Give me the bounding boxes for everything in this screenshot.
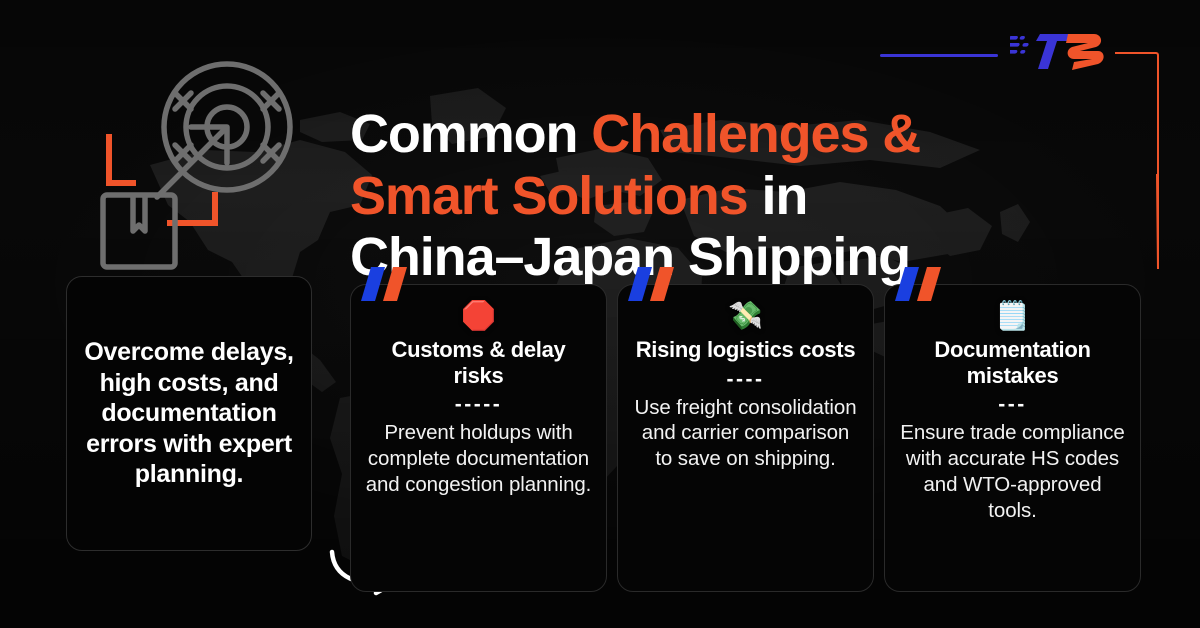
dual-parallelogram-badge-icon: [626, 267, 680, 301]
card-divider: ---: [998, 394, 1026, 414]
challenge-card-1[interactable]: 🛑 Customs & delay risks ----- Prevent ho…: [350, 284, 607, 592]
stop-sign-emoji: 🛑: [461, 299, 496, 333]
intro-summary-text: Overcome delays, high costs, and documen…: [83, 337, 295, 490]
cards-row: Overcome delays, high costs, and documen…: [66, 276, 1138, 596]
money-with-wings-emoji: 💸: [728, 299, 763, 333]
target-arrow-package-icon: [95, 55, 315, 280]
card-body-text: Ensure trade compliance with accurate HS…: [899, 420, 1126, 523]
page-title: Common Challenges & Smart Solutions in C…: [350, 104, 1010, 289]
card-title: Customs & delay risks: [365, 337, 592, 388]
card-title: Rising logistics costs: [636, 337, 856, 363]
headline-line1-white: Common: [350, 104, 591, 164]
ts-logo: [1010, 28, 1110, 76]
poster-canvas: Common Challenges & Smart Solutions in C…: [0, 0, 1200, 628]
card-divider: ----: [727, 369, 765, 389]
headline-line2-white: in: [748, 166, 808, 226]
dual-parallelogram-badge-icon: [359, 267, 413, 301]
intro-summary-card: Overcome delays, high costs, and documen…: [66, 276, 312, 551]
blue-accent-rule: [880, 54, 998, 57]
card-body-text: Prevent holdups with complete documentat…: [365, 420, 592, 497]
page-document-emoji: 🗒️: [995, 299, 1030, 333]
orange-corner-bracket: [1115, 52, 1159, 269]
dual-parallelogram-badge-icon: [893, 267, 947, 301]
headline-line2-accent: Smart Solutions: [350, 166, 748, 226]
card-title: Documentation mistakes: [899, 337, 1126, 388]
challenge-card-3[interactable]: 🗒️ Documentation mistakes --- Ensure tra…: [884, 284, 1141, 592]
card-divider: -----: [455, 394, 502, 414]
challenge-card-2[interactable]: 💸 Rising logistics costs ---- Use freigh…: [617, 284, 874, 592]
headline-line1-accent: Challenges &: [591, 104, 920, 164]
card-body-text: Use freight consolidation and carrier co…: [632, 395, 859, 472]
